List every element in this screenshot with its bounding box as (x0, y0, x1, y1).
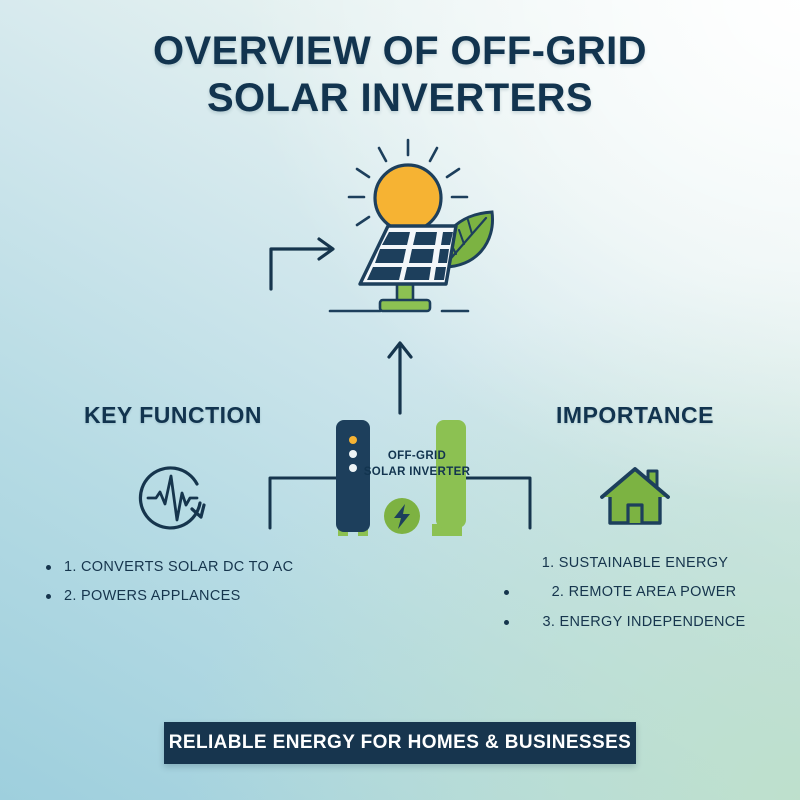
page-title: OVERVIEW OF OFF-GRID SOLAR INVERTERS (0, 28, 800, 122)
inverter-caption-line-2: SOLAR INVERTER (352, 464, 482, 480)
importance-list: 1. SUSTAINABLE ENERGY 2. REMOTE AREA POW… (490, 555, 780, 631)
page-title-line-2: SOLAR INVERTERS (0, 75, 800, 122)
sun-icon (375, 165, 441, 231)
led-indicator-on (349, 436, 357, 444)
key-function-list: 1. CONVERTS SOLAR DC TO AC 2. POWERS APP… (28, 559, 318, 606)
house-icon (596, 459, 674, 531)
list-item: 3. ENERGY INDEPENDENCE (490, 614, 780, 631)
lightning-bolt-badge-icon (384, 498, 420, 534)
list-item: 2. REMOTE AREA POWER (490, 584, 780, 601)
key-function-icon-wrap (28, 459, 318, 537)
key-function-section: KEY FUNCTION 1. CONVERTS SOLAR DC TO AC … (28, 402, 318, 618)
infographic-canvas: OVERVIEW OF OFF-GRID SOLAR INVERTERS (0, 0, 800, 800)
inverter-caption: OFF-GRID SOLAR INVERTER (352, 448, 482, 481)
importance-heading: IMPORTANCE (490, 402, 780, 429)
importance-icon-wrap (490, 459, 780, 537)
list-item: 2. POWERS APPLANCES (44, 588, 318, 605)
list-item: 1. SUSTAINABLE ENERGY (490, 555, 780, 572)
inverter-caption-line-1: OFF-GRID (352, 448, 482, 464)
importance-section: IMPORTANCE 1. SUSTAINABLE ENERGY 2. REMO… (490, 402, 780, 643)
bottom-banner: RELIABLE ENERGY FOR HOMES & BUSINESSES (164, 722, 636, 764)
key-function-heading: KEY FUNCTION (28, 402, 318, 429)
list-item: 1. CONVERTS SOLAR DC TO AC (44, 559, 318, 576)
page-title-line-1: OVERVIEW OF OFF-GRID (0, 28, 800, 75)
ac-waveform-cycle-icon (134, 459, 212, 537)
solar-panel-illustration (296, 132, 526, 322)
flow-arrow-up-icon (370, 335, 430, 415)
bottom-banner-text: RELIABLE ENERGY FOR HOMES & BUSINESSES (169, 732, 631, 754)
solar-panel-icon (360, 226, 456, 284)
